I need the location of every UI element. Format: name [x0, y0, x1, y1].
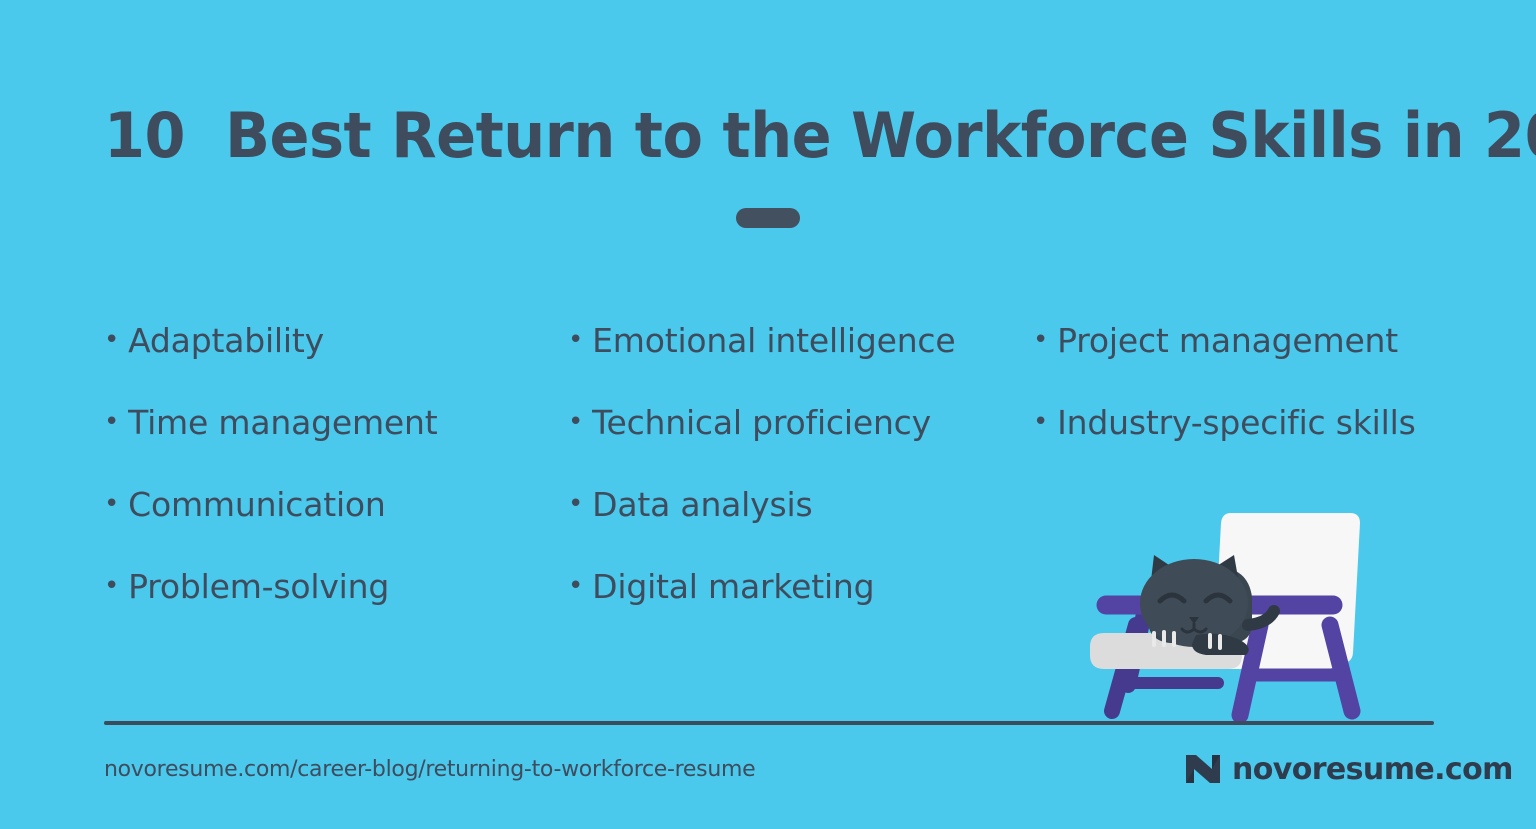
- list-item: • Time management: [104, 400, 554, 482]
- list-item: • Project management: [1033, 318, 1483, 400]
- list-item: • Adaptability: [104, 318, 554, 400]
- list-item: • Technical proficiency: [568, 400, 1018, 482]
- list-item-label: Adaptability: [128, 318, 324, 363]
- list-item-label: Industry-specific skills: [1057, 400, 1415, 445]
- list-item-label: Communication: [128, 482, 386, 527]
- list-item-label: Digital marketing: [592, 564, 874, 609]
- logo-text: novoresume.com: [1232, 752, 1513, 787]
- bullet-icon: •: [104, 400, 119, 445]
- title-divider: [736, 208, 800, 228]
- skills-column-1: • Adaptability • Time management • Commu…: [104, 318, 554, 646]
- list-item-label: Time management: [128, 400, 437, 445]
- cat-sleeping-on-chair-illustration: [1088, 505, 1388, 730]
- bullet-icon: •: [1033, 318, 1048, 363]
- bullet-icon: •: [1033, 400, 1048, 445]
- list-item: • Communication: [104, 482, 554, 564]
- novoresume-logo[interactable]: novoresume.com: [1183, 750, 1513, 788]
- infographic-poster: 10 Best Return to the Workforce Skills i…: [0, 0, 1536, 829]
- list-item-label: Emotional intelligence: [592, 318, 955, 363]
- novoresume-n-logo-icon: [1183, 751, 1223, 787]
- bullet-icon: •: [568, 400, 583, 445]
- list-item: • Digital marketing: [568, 564, 1018, 646]
- list-item-label: Project management: [1057, 318, 1398, 363]
- skills-column-3: • Project management • Industry-specific…: [1033, 318, 1483, 482]
- source-url[interactable]: novoresume.com/career-blog/returning-to-…: [104, 757, 755, 782]
- skills-column-2: • Emotional intelligence • Technical pro…: [568, 318, 1018, 646]
- bullet-icon: •: [104, 482, 119, 527]
- bullet-icon: •: [568, 482, 583, 527]
- list-item-label: Data analysis: [592, 482, 812, 527]
- bullet-icon: •: [104, 318, 119, 363]
- list-item-label: Technical proficiency: [592, 400, 931, 445]
- cat-head: [1140, 559, 1248, 647]
- list-item: • Problem-solving: [104, 564, 554, 646]
- page-title: 10 Best Return to the Workforce Skills i…: [104, 98, 1377, 174]
- bullet-icon: •: [568, 318, 583, 363]
- list-item: • Industry-specific skills: [1033, 400, 1483, 482]
- bullet-icon: •: [568, 564, 583, 609]
- footer-divider: [104, 721, 1434, 725]
- list-item-label: Problem-solving: [128, 564, 389, 609]
- list-item: • Data analysis: [568, 482, 1018, 564]
- list-item: • Emotional intelligence: [568, 318, 1018, 400]
- bullet-icon: •: [104, 564, 119, 609]
